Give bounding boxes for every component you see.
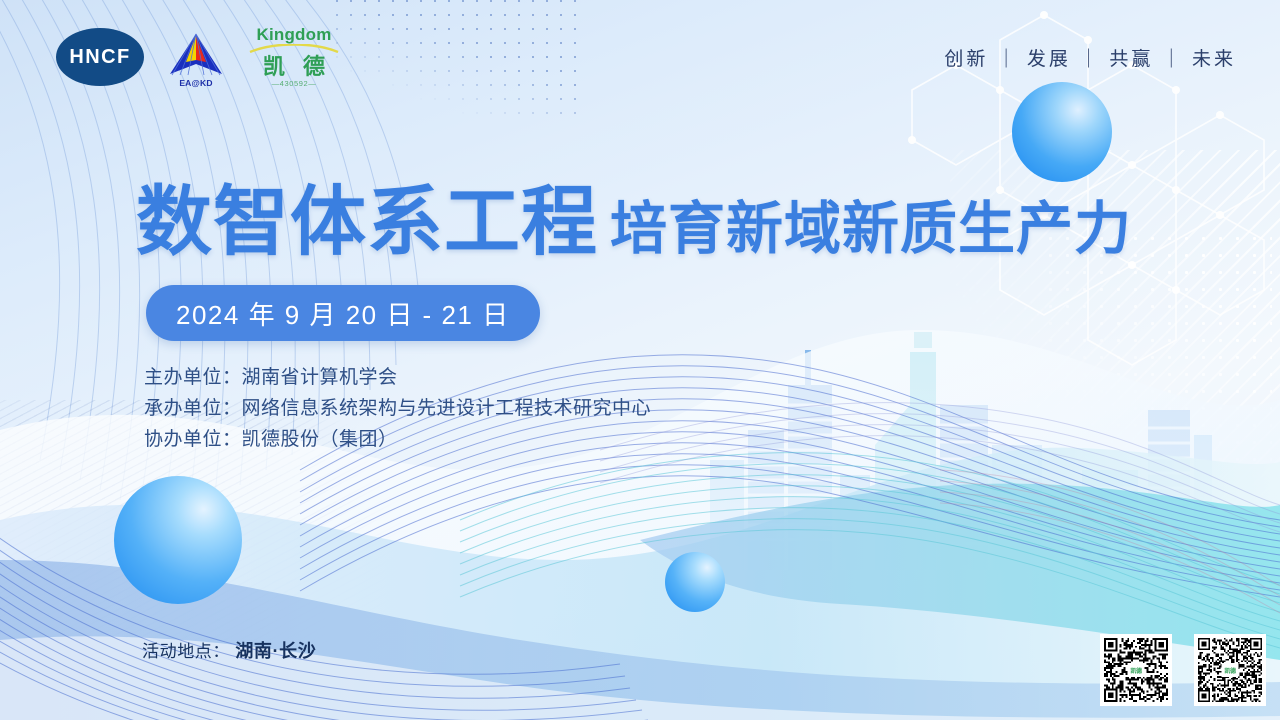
sphere-decoration-center: [665, 552, 725, 612]
hncf-logo: HNCF: [56, 28, 144, 86]
kingdom-logo: Kingdom 凯 德 —430592—: [248, 26, 340, 88]
sphere-decoration-left: [114, 476, 242, 604]
qr-code-left-badge: 凯德: [1128, 663, 1145, 677]
page-title: 数智体系工程 培育新域新质生产力: [136, 160, 1132, 270]
qr-code-right[interactable]: 凯德: [1194, 634, 1266, 706]
eakd-logo-text: EA@KD: [179, 78, 212, 88]
location-label: 活动地点：: [142, 642, 230, 661]
eakd-logo: EA@KD: [166, 26, 226, 88]
hncf-logo-text: HNCF: [69, 46, 130, 69]
logo-row: HNCF EA@KD Kingdom 凯 德 —430592—: [56, 26, 340, 88]
organizer-list: 主办单位：湖南省计算机学会 承办单位：网络信息系统架构与先进设计工程技术研究中心…: [144, 362, 651, 455]
qr-code-row: 凯德 凯德: [1100, 634, 1266, 706]
headline-subtitle: 培育新域新质生产力: [610, 183, 1132, 265]
qr-code-left[interactable]: 凯德: [1100, 634, 1172, 706]
tagline: 创新 ｜ 发展 ｜ 共赢 ｜ 未来: [944, 44, 1236, 71]
kingdom-logo-code: —430592—: [272, 80, 317, 88]
kingdom-logo-en: Kingdom: [256, 26, 331, 43]
dot-grid-decoration: [330, 0, 580, 114]
date-badge: 2024 年 9 月 20 日 - 21 日: [146, 285, 540, 341]
organizer-line: 协办单位：凯德股份（集团）: [144, 424, 651, 455]
conference-poster: HNCF EA@KD Kingdom 凯 德 —430592— 创新 ｜: [0, 0, 1280, 720]
organizer-line: 主办单位：湖南省计算机学会: [144, 362, 651, 393]
kingdom-logo-cn: 凯 德: [257, 56, 331, 78]
location-value: 湖南·长沙: [235, 641, 316, 661]
city-skyline-decoration: [700, 310, 1280, 570]
location-info: 活动地点： 湖南·长沙: [142, 637, 316, 663]
organizer-line: 承办单位：网络信息系统架构与先进设计工程技术研究中心: [144, 393, 651, 424]
kingdom-swoosh-icon: [248, 44, 340, 53]
headline-main: 数智体系工程: [136, 160, 598, 270]
qr-code-right-badge: 凯德: [1222, 663, 1239, 677]
